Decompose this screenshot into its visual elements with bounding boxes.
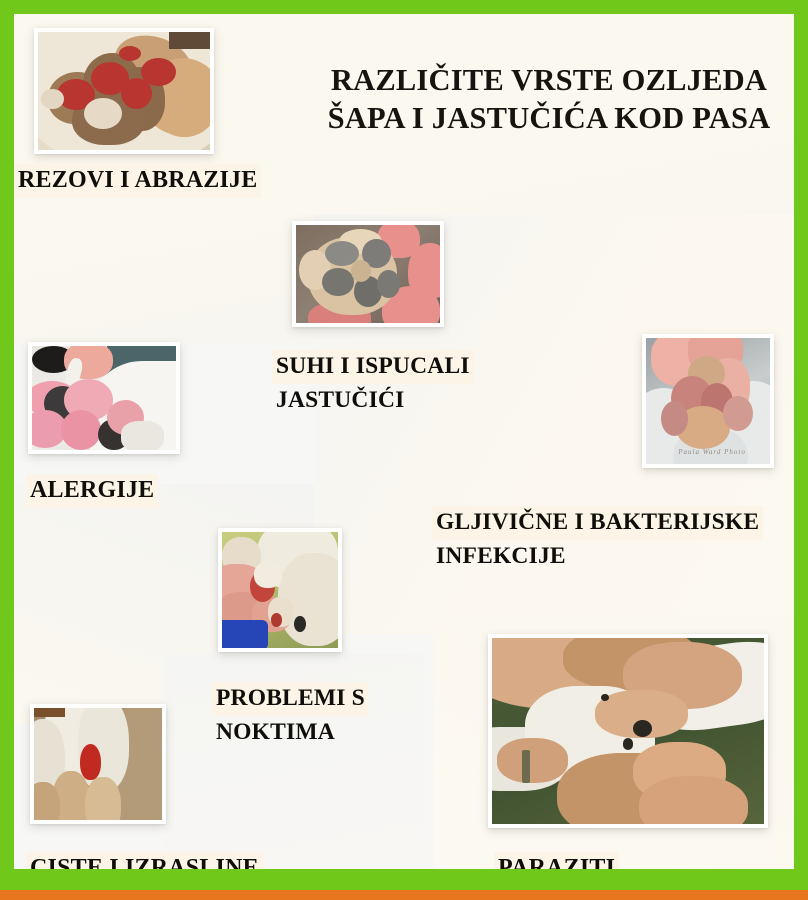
label-cysts-and-growths: CISTE I IZRASLINE: [26, 852, 263, 869]
photo-cuts-and-abrasions: [34, 28, 214, 154]
photo-nail-problems-image: [222, 532, 338, 648]
photo-watermark: Paula Ward Photo: [678, 448, 746, 456]
photo-cysts-and-growths: [30, 704, 166, 824]
poster-title: RAZLIČITE VRSTE OZLJEDA ŠAPA I JASTUČIĆA…: [314, 62, 784, 137]
poster-canvas: RAZLIČITE VRSTE OZLJEDA ŠAPA I JASTUČIĆA…: [14, 14, 794, 869]
label-allergies-line-1: ALERGIJE: [26, 474, 158, 508]
label-fungal-bacterial-infections-line-1: GLJIVIČNE I BAKTERIJSKE: [432, 506, 763, 540]
label-parasites: PARAZITI: [494, 852, 619, 869]
photo-parasites-image: [492, 638, 764, 824]
label-cuts-and-abrasions-line-1: REZOVI I ABRAZIJE: [14, 164, 261, 198]
photo-fungal-bacterial-infections: Paula Ward Photo: [642, 334, 774, 468]
label-allergies: ALERGIJE: [26, 474, 158, 508]
poster-title-line-1: RAZLIČITE VRSTE OZLJEDA: [314, 62, 784, 100]
label-cuts-and-abrasions: REZOVI I ABRAZIJE: [14, 164, 261, 198]
photo-cysts-and-growths-image: [34, 708, 162, 820]
label-nail-problems-line-1: PROBLEMI S: [212, 682, 369, 716]
photo-dry-cracked-pads: [292, 221, 444, 327]
label-dry-cracked-pads-line-1: SUHI I ISPUCALI: [272, 350, 474, 384]
bottom-accent-strip: [0, 890, 808, 900]
label-fungal-bacterial-infections: GLJIVIČNE I BAKTERIJSKE INFEKCIJE: [432, 506, 763, 573]
photo-fungal-bacterial-infections-image: Paula Ward Photo: [646, 338, 770, 464]
label-dry-cracked-pads-line-2: JASTUČIĆI: [272, 384, 408, 418]
photo-dry-cracked-pads-image: [296, 225, 440, 323]
label-nail-problems-line-2: NOKTIMA: [212, 716, 339, 750]
label-dry-cracked-pads: SUHI I ISPUCALI JASTUČIĆI: [272, 350, 474, 417]
poster-frame: RAZLIČITE VRSTE OZLJEDA ŠAPA I JASTUČIĆA…: [0, 0, 808, 900]
photo-parasites: [488, 634, 768, 828]
photo-allergies: [28, 342, 180, 454]
label-nail-problems: PROBLEMI S NOKTIMA: [212, 682, 369, 749]
photo-nail-problems: [218, 528, 342, 652]
label-cysts-and-growths-line-1: CISTE I IZRASLINE: [26, 852, 263, 869]
photo-allergies-image: [32, 346, 176, 450]
label-fungal-bacterial-infections-line-2: INFEKCIJE: [432, 540, 570, 574]
poster-title-line-2: ŠAPA I JASTUČIĆA KOD PASA: [314, 100, 784, 138]
photo-cuts-and-abrasions-image: [38, 32, 210, 150]
label-parasites-line-1: PARAZITI: [494, 852, 619, 869]
